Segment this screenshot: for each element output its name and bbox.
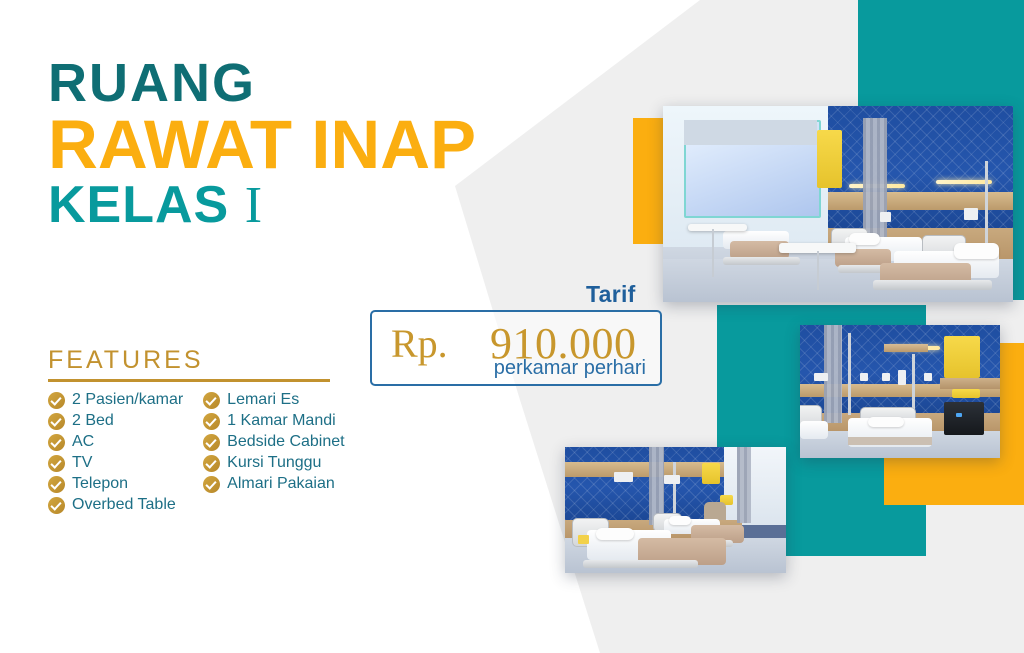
feature-label: 2 Pasien/kamar bbox=[72, 391, 183, 409]
headline-line-ruang: RUANG bbox=[48, 58, 476, 110]
feature-item: 1 Kamar Mandi bbox=[203, 412, 344, 430]
check-circle-icon bbox=[48, 476, 65, 493]
feature-label: TV bbox=[72, 454, 92, 472]
feature-item: TV bbox=[48, 454, 183, 472]
photo-hospital-room-single-bed-cabinet bbox=[800, 325, 1000, 458]
check-circle-icon bbox=[203, 392, 220, 409]
feature-label: Lemari Es bbox=[227, 391, 299, 409]
check-circle-icon bbox=[203, 413, 220, 430]
poster-canvas: RUANG RAWAT INAP KELAS I FEATURES 2 Pasi… bbox=[0, 0, 1024, 653]
check-circle-icon bbox=[48, 413, 65, 430]
headline-line-kelas: KELAS I bbox=[48, 179, 476, 232]
check-circle-icon bbox=[203, 476, 220, 493]
features-section: FEATURES 2 Pasien/kamar 2 Bed AC TV Tele… bbox=[48, 346, 398, 514]
feature-item: Lemari Es bbox=[203, 391, 344, 409]
features-title: FEATURES bbox=[48, 346, 398, 375]
feature-item: 2 Bed bbox=[48, 412, 183, 430]
feature-label: AC bbox=[72, 433, 94, 451]
price-box: Rp. 910.000 perkamar perhari bbox=[370, 310, 662, 386]
feature-item: Bedside Cabinet bbox=[203, 433, 344, 451]
feature-label: Kursi Tunggu bbox=[227, 454, 321, 472]
feature-label: 2 Bed bbox=[72, 412, 114, 430]
check-circle-icon bbox=[203, 434, 220, 451]
poster-headline: RUANG RAWAT INAP KELAS I bbox=[48, 58, 476, 232]
feature-item: 2 Pasien/kamar bbox=[48, 391, 183, 409]
feature-item: Almari Pakaian bbox=[203, 475, 344, 493]
check-circle-icon bbox=[48, 434, 65, 451]
feature-label: Telepon bbox=[72, 475, 128, 493]
feature-label: Overbed Table bbox=[72, 496, 176, 514]
feature-item: Telepon bbox=[48, 475, 183, 493]
headline-line-rawat-inap: RAWAT INAP bbox=[48, 110, 476, 179]
headline-kelas-roman: I bbox=[245, 177, 263, 234]
feature-label: Almari Pakaian bbox=[227, 475, 335, 493]
tarif-label: Tarif bbox=[586, 281, 636, 308]
feature-item: Overbed Table bbox=[48, 496, 183, 514]
features-column-left: 2 Pasien/kamar 2 Bed AC TV Telepon Overb… bbox=[48, 391, 183, 514]
photo-hospital-room-two-beds-window bbox=[663, 106, 1013, 302]
features-column-right: Lemari Es 1 Kamar Mandi Bedside Cabinet … bbox=[203, 391, 344, 514]
photo-hospital-room-two-beds-curtain bbox=[565, 447, 786, 573]
price-currency: Rp. bbox=[391, 320, 448, 367]
price-period: perkamar perhari bbox=[494, 357, 646, 380]
check-circle-icon bbox=[48, 455, 65, 472]
feature-item: Kursi Tunggu bbox=[203, 454, 344, 472]
check-circle-icon bbox=[203, 455, 220, 472]
feature-label: 1 Kamar Mandi bbox=[227, 412, 336, 430]
headline-kelas-text: KELAS bbox=[48, 176, 229, 234]
check-circle-icon bbox=[48, 392, 65, 409]
feature-item: AC bbox=[48, 433, 183, 451]
features-divider bbox=[48, 379, 330, 382]
feature-label: Bedside Cabinet bbox=[227, 433, 344, 451]
check-circle-icon bbox=[48, 497, 65, 514]
